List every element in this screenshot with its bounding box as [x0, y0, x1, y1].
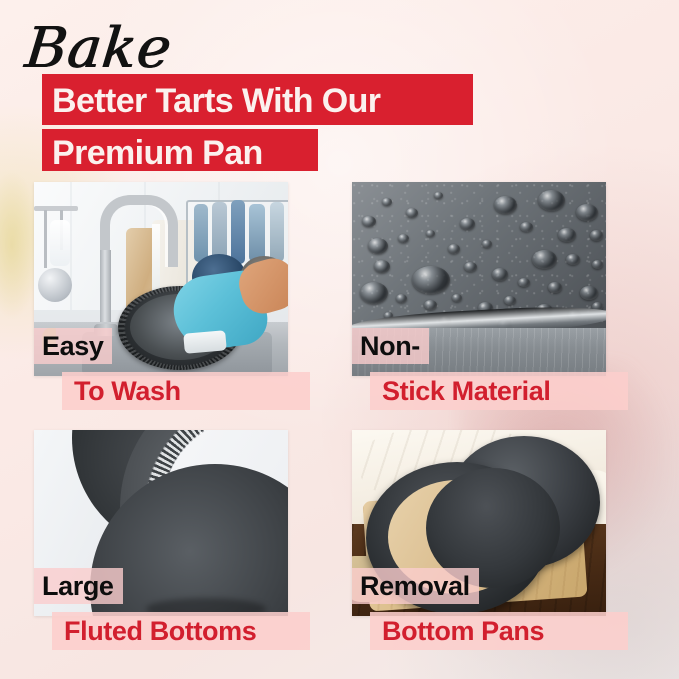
water-droplet-large: [412, 266, 450, 294]
product-infographic: Bake Better Tarts With Our Premium Pan: [0, 0, 679, 679]
plate-4: [249, 204, 265, 262]
water-droplet: [464, 262, 477, 272]
feature-label-bottom-2: Stick Material: [382, 378, 550, 405]
water-droplet: [398, 234, 409, 243]
plate-5: [270, 202, 284, 262]
sponge: [183, 330, 227, 354]
water-droplet: [492, 268, 508, 281]
feature-label-top-4: Removal: [360, 573, 470, 600]
water-droplet: [452, 294, 462, 302]
water-droplet: [576, 204, 598, 221]
water-droplet: [504, 296, 516, 305]
feature-label-bottom-band-4: Bottom Pans: [370, 612, 628, 650]
fluted-tart-pan-rims-closeup-photo: Large: [34, 430, 288, 616]
plate-3: [231, 200, 245, 264]
feature-label-bottom-band-2: Stick Material: [370, 372, 628, 410]
feature-card-large-fluted-bottoms: Large Fluted Bottoms: [34, 430, 288, 616]
water-droplet: [590, 230, 603, 241]
feature-label-top-band-3: Large: [34, 568, 123, 604]
feature-card-non-stick-material: Non- Stick Material: [352, 182, 606, 376]
script-headline-bake: Bake: [23, 21, 175, 77]
feature-label-top-2: Non-: [360, 333, 420, 360]
feature-label-top-3: Large: [42, 573, 114, 600]
feature-label-bottom-band-3: Fluted Bottoms: [52, 612, 310, 650]
feature-label-bottom-4: Bottom Pans: [382, 618, 544, 645]
plate-1: [194, 204, 208, 262]
feature-label-top-band-2: Non-: [352, 328, 429, 364]
water-droplet: [494, 196, 517, 214]
wall-rail: [34, 206, 78, 211]
ladle: [38, 268, 72, 302]
soap-bottle: [50, 220, 70, 266]
water-droplet: [362, 216, 376, 227]
water-droplet: [448, 244, 460, 254]
feature-label-top-band-1: Easy: [34, 328, 112, 364]
water-droplet: [518, 278, 530, 287]
water-droplet: [548, 282, 562, 293]
header: Bake Better Tarts With Our Premium Pan: [0, 0, 679, 180]
tart-pan-washed-in-kitchen-sink-photo: Easy: [34, 182, 288, 376]
feature-label-bottom-1: To Wash: [74, 378, 181, 405]
water-droplet: [374, 260, 390, 273]
faucet-column: [100, 250, 111, 332]
water-droplet: [424, 300, 437, 310]
water-droplet-large: [360, 282, 388, 304]
water-droplet: [382, 198, 392, 206]
feature-label-bottom-3: Fluted Bottoms: [64, 618, 256, 645]
hanging-rod-1: [44, 210, 47, 268]
water-droplet: [406, 208, 418, 218]
water-droplet: [538, 190, 565, 211]
headline-line-1: Better Tarts With Our: [52, 84, 380, 118]
water-droplet: [532, 250, 557, 269]
headline-line-2: Premium Pan: [52, 136, 263, 170]
feature-label-bottom-band-1: To Wash: [62, 372, 310, 410]
water-droplet: [396, 294, 407, 303]
feature-label-top-1: Easy: [42, 333, 103, 360]
feature-label-top-band-4: Removal: [352, 568, 479, 604]
tart-pan-with-removable-bottom-on-wood-board-photo: Removal: [352, 430, 606, 616]
water-droplet: [482, 240, 492, 248]
water-droplet: [368, 238, 388, 254]
feature-card-easy-to-wash: Easy To Wash: [34, 182, 288, 376]
feature-card-removable-bottom-pans: Removal Bottom Pans: [352, 430, 606, 616]
water-droplet: [580, 286, 598, 300]
faucet-neck: [100, 195, 178, 267]
water-droplet: [460, 218, 475, 230]
water-droplets-on-nonstick-surface-photo: Non-: [352, 182, 606, 376]
water-droplet: [566, 254, 580, 265]
water-droplet: [426, 230, 435, 237]
water-droplet: [434, 192, 443, 199]
water-droplet: [592, 260, 603, 269]
water-droplet: [520, 222, 533, 232]
water-droplet: [558, 228, 576, 242]
